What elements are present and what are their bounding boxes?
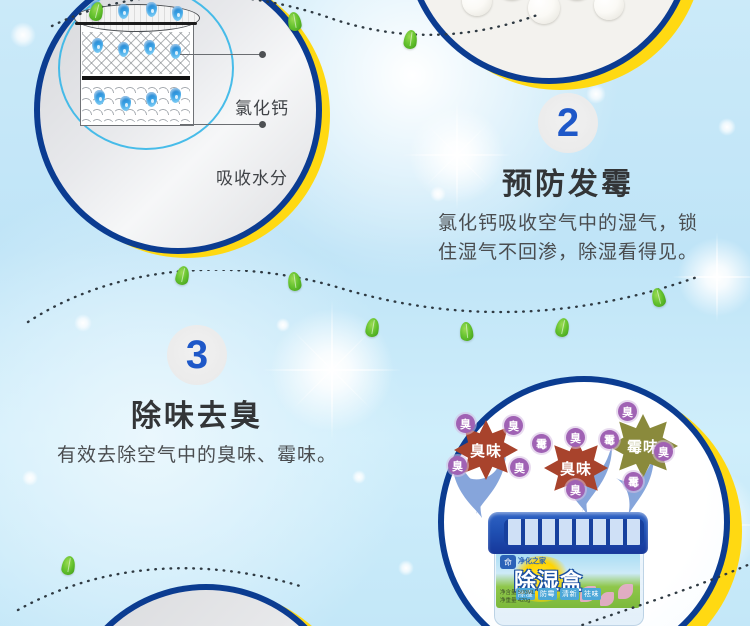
mold-pill-label: 霉 (628, 474, 639, 490)
bottom-photo-circle (62, 584, 360, 626)
leaf-icon (364, 317, 380, 338)
dehumidifier-cutaway-illustration (58, 0, 222, 142)
odor-pill: 臭 (566, 428, 585, 447)
odor-pill-label: 臭 (658, 444, 669, 460)
mold-pill: 霉 (532, 434, 551, 453)
glow-dot (398, 560, 414, 576)
leaf-icon (174, 265, 191, 286)
section-body-2-line1: 氯化钙吸收空气中的湿气，锁 (398, 209, 738, 238)
beads-photo-circle (404, 0, 704, 94)
odor-pill: 臭 (504, 416, 523, 435)
section-body-2-line2: 住湿气不回渗，除湿看得见。 (398, 238, 738, 267)
feature-section-2: 2 预防发霉 氯化钙吸收空气中的湿气，锁 住湿气不回渗，除湿看得见。 (398, 93, 738, 268)
glow-dot (22, 470, 38, 486)
leaf-icon (554, 317, 571, 338)
leaf-icon (650, 287, 667, 309)
odor-pill-label: 臭 (452, 458, 463, 474)
glow-dot (10, 22, 36, 48)
section-body-3: 有效去除空气中的臭味、霉味。 (32, 441, 362, 470)
odor-pill-label: 臭 (514, 460, 525, 476)
diagram-label-absorb: 吸收水分 (216, 164, 288, 189)
odor-pill: 臭 (566, 480, 585, 499)
feature-tag: 清新 (560, 588, 579, 600)
product-package: 命 净化之家 除湿盒 除湿 防霉 清新 祛味 净含量 500ML 净重量 420… (482, 512, 654, 626)
leader-line-calcium (180, 54, 262, 55)
odor-pill: 臭 (618, 402, 637, 421)
section-title-2: 预防发霉 (398, 159, 738, 203)
mold-pill: 霉 (600, 430, 619, 449)
lid-vent-grid (504, 519, 644, 545)
absorption-diagram-circle (34, 0, 330, 262)
mold-pill-label: 霉 (604, 432, 615, 448)
mold-pill: 霉 (624, 472, 643, 491)
divider-plate (82, 76, 190, 80)
lid-seal-line (75, 22, 197, 25)
odor-pill-label: 臭 (570, 430, 581, 446)
leaf-icon (459, 321, 474, 341)
leader-line-absorb (180, 124, 262, 125)
odor-pill: 臭 (510, 458, 529, 477)
section-number-badge-2: 2 (538, 93, 598, 153)
odor-pill-label: 臭 (460, 416, 471, 432)
odor-star-label-1: 臭味 (470, 440, 502, 461)
section-number-badge-3: 3 (167, 325, 227, 385)
section-number-2: 2 (557, 103, 579, 143)
leaf-icon (287, 271, 303, 292)
section-number-3: 3 (186, 335, 208, 375)
feature-tag: 祛味 (582, 588, 601, 600)
leader-dot-absorb (259, 121, 266, 128)
leaf-icon (60, 555, 76, 576)
feature-section-3: 3 除味去臭 有效去除空气中的臭味、霉味。 (32, 325, 362, 470)
product-spec: 净含量 500ML 净重量 420g (500, 589, 535, 606)
spec-volume: 净含量 500ML (500, 589, 535, 597)
spec-weight: 净重量 420g (500, 597, 535, 605)
odor-pill: 臭 (456, 414, 475, 433)
odor-pill: 臭 (448, 456, 467, 475)
section-title-3: 除味去臭 (32, 391, 362, 435)
diagram-label-calcium: 氯化钙 (235, 94, 289, 119)
leader-dot-calcium (259, 51, 266, 58)
glow-dot (352, 470, 366, 484)
mold-pill-label: 霉 (536, 436, 547, 452)
section-body-2: 氯化钙吸收空气中的湿气，锁 住湿气不回渗，除湿看得见。 (398, 209, 738, 268)
odor-pill-label: 臭 (570, 482, 581, 498)
feature-tag: 防霉 (538, 588, 557, 600)
odor-pill-label: 臭 (622, 404, 633, 420)
package-lid (488, 512, 648, 554)
odor-star-label-2: 臭味 (560, 458, 592, 479)
odor-pill: 臭 (654, 442, 673, 461)
section-body-3-line1: 有效去除空气中的臭味、霉味。 (32, 441, 362, 470)
odor-pill-label: 臭 (508, 418, 519, 434)
package-label: 命 净化之家 除湿盒 除湿 防霉 清新 祛味 净含量 500ML 净重量 420… (496, 552, 640, 608)
product-detail-page: 氯化钙 吸收水分 2 预防发霉 氯化钙吸收空气中的湿气，锁 住湿气不回渗，除湿看… (0, 0, 750, 626)
